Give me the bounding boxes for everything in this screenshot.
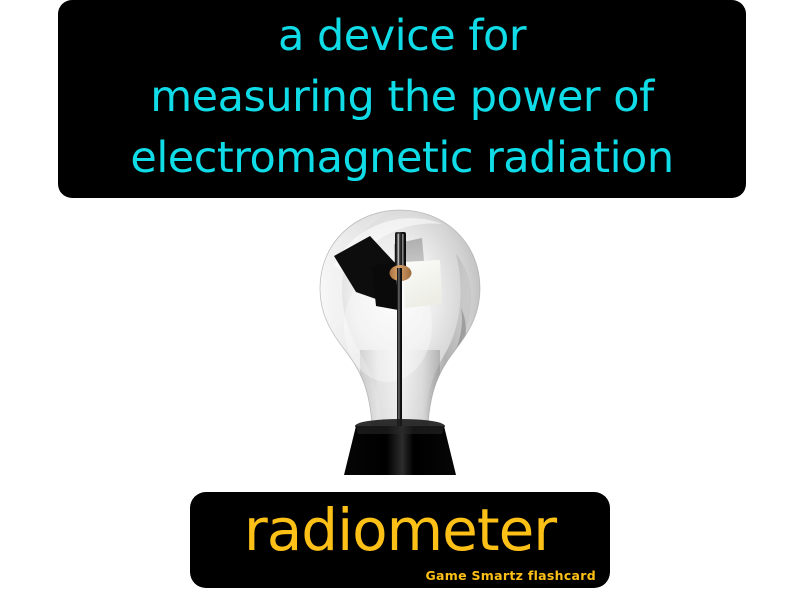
definition-line-3: electromagnetic radiation bbox=[130, 128, 673, 189]
radiometer-image bbox=[290, 200, 510, 490]
radiometer-base bbox=[344, 419, 456, 475]
definition-line-1: a device for bbox=[278, 6, 526, 67]
vane-white-right bbox=[403, 260, 442, 308]
term-label: radiometer bbox=[190, 496, 610, 564]
definition-banner: a device for measuring the power of elec… bbox=[58, 0, 746, 198]
definition-line-2: measuring the power of bbox=[150, 67, 653, 128]
term-banner: radiometer Game Smartz flashcard bbox=[190, 492, 610, 588]
attribution-label: Game Smartz flashcard bbox=[425, 568, 596, 583]
radiometer-illustration bbox=[290, 200, 510, 490]
